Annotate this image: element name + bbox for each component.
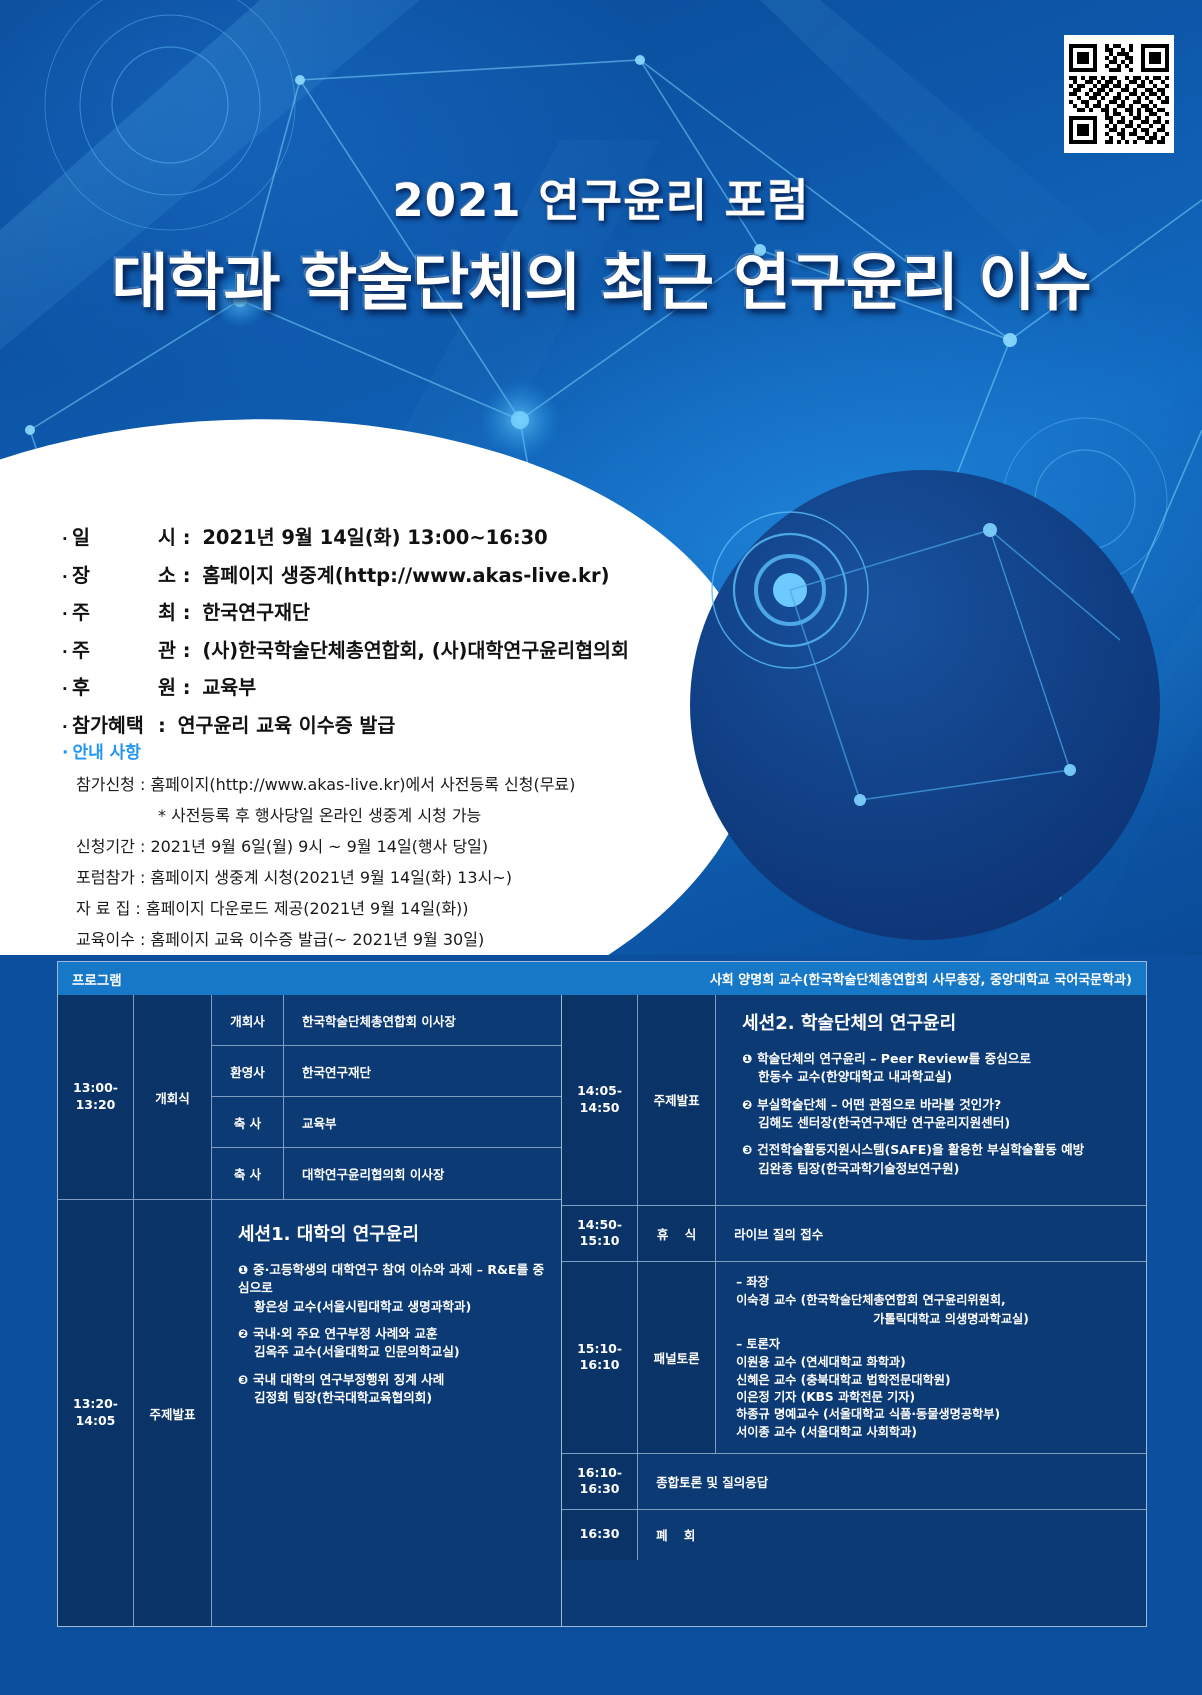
item-speaker: 김해도 센터장(한국연구재단 연구윤리지원센터) <box>758 1114 1132 1132</box>
panel-block: – 좌장 이숙경 교수 (한국학술단체총연합회 연구윤리위원회, 가톨릭대학교 … <box>716 1262 1146 1453</box>
cell-kind: 패널토론 <box>638 1262 716 1453</box>
notice-line: 자 료 집 : 홈페이지 다운로드 제공(2021년 9월 14일(화)) <box>76 901 575 917</box>
colon: : <box>176 528 197 548</box>
cell-time: 13:00- 13:20 <box>58 995 134 1199</box>
item-topic: 학술단체의 연구윤리 – Peer Review를 중심으로 <box>757 1051 1031 1066</box>
item-number: ❶ <box>742 1051 757 1068</box>
item-number: ❶ <box>238 1262 253 1279</box>
item-topic: 국내·외 주요 연구부정 사례와 교훈 <box>253 1326 438 1341</box>
program-header-title: 프로그램 <box>72 969 122 989</box>
cell-time: 16:10- 16:30 <box>562 1454 638 1509</box>
info-label-pad: 관 <box>158 641 176 661</box>
cell-kind: 휴 식 <box>638 1206 716 1261</box>
table-row: 16:10- 16:30 종합토론 및 질의응답 <box>562 1454 1146 1510</box>
panelists-label: – 토론자 <box>736 1336 1136 1353</box>
cell-time: 14:05- 14:50 <box>562 995 638 1205</box>
opening-subrows: 개회사 한국학술단체총연합회 이사장 환영사 한국연구재단 축 사 교육부 <box>212 995 561 1199</box>
panelist-name: 서이종 교수 (서울대학교 사회학과) <box>736 1424 1136 1441</box>
info-label: 주 <box>72 641 158 661</box>
item-number: ❷ <box>742 1097 757 1114</box>
notice-line: 참가신청 : 홈페이지(http://www.akas-live.kr)에서 사… <box>76 777 575 793</box>
info-row-organizer: · 주 관 : (사)한국학술단체총연합회, (사)대학연구윤리협의회 <box>62 641 629 661</box>
info-label-pad: 소 <box>158 566 176 586</box>
info-value: 연구윤리 교육 이수증 발급 <box>178 716 396 736</box>
panelist-name: 이은정 기자 (KBS 과학전문 기자) <box>736 1389 1136 1406</box>
info-value: 홈페이지 생중계(http://www.akas-live.kr) <box>202 566 609 586</box>
item-speaker: 황은성 교수(서울시립대학교 생명과학과) <box>254 1298 547 1316</box>
notice-line: 교육이수 : 홈페이지 교육 이수증 발급(~ 2021년 9월 30일) <box>76 932 575 948</box>
time-label: 14:05- 14:50 <box>577 1083 622 1117</box>
info-value: 교육부 <box>202 678 256 698</box>
time-label: 16:30 <box>580 1526 620 1543</box>
item-speaker: 김옥주 교수(서울대학교 인문의학교실) <box>254 1343 547 1361</box>
cell-subkind: 축 사 <box>212 1148 284 1199</box>
table-row: 축 사 교육부 <box>212 1097 561 1148</box>
info-label: 일 <box>72 528 158 548</box>
program-header-bar: 프로그램 사회 양명희 교수(한국학술단체총연합회 사무총장, 중앙대학교 국어… <box>58 962 1146 995</box>
info-row-sponsor: · 후 원 : 교육부 <box>62 678 629 698</box>
time-label: 13:00- 13:20 <box>73 1080 118 1114</box>
item-number: ❷ <box>238 1326 253 1343</box>
cell-kind: 주제발표 <box>134 1200 212 1626</box>
cell-subkind: 축 사 <box>212 1097 284 1147</box>
bullet-icon: · <box>62 532 72 547</box>
colon: : <box>176 566 197 586</box>
session2-item: ❷부실학술단체 – 어떤 관점으로 바라볼 것인가? 김해도 센터장(한국연구재… <box>742 1096 1132 1133</box>
poster-root: 2021 연구윤리 포럼 대학과 학술단체의 최근 연구윤리 이슈 · 일 시 … <box>0 0 1202 1695</box>
qr-code-icon <box>1064 35 1174 153</box>
circle-target-graphic <box>690 470 1160 940</box>
cell-subkind: 개회사 <box>212 995 284 1045</box>
session2-item: ❶학술단체의 연구윤리 – Peer Review를 중심으로 한동수 교수(한… <box>742 1050 1132 1087</box>
item-topic: 건전학술활동지원시스템(SAFE)을 활용한 부실학술활동 예방 <box>757 1142 1084 1157</box>
item-speaker: 김정희 팀장(한국대학교육협의회) <box>254 1389 547 1407</box>
notice-line: * 사전등록 후 행사당일 온라인 생중계 시청 가능 <box>158 808 575 824</box>
panelist-name: 이원용 교수 (연세대학교 화학과) <box>736 1354 1136 1371</box>
bullet-icon: · <box>62 570 72 585</box>
session1-title: 세션1. 대학의 연구윤리 <box>238 1220 547 1246</box>
panelist-name: 하종규 명예교수 (서울대학교 식품·동물생명공학부) <box>736 1406 1136 1423</box>
panel-chair-affiliation: 가톨릭대학교 의생명과학교실) <box>736 1311 1136 1328</box>
session1-item: ❸국내 대학의 연구부정행위 징계 사례 김정희 팀장(한국대학교육협의회) <box>238 1371 547 1408</box>
notice-heading: ·안내 사항 <box>62 738 575 763</box>
program-moderator: 사회 양명희 교수(한국학술단체총연합회 사무총장, 중앙대학교 국어국문학과) <box>710 969 1132 988</box>
title-block: 2021 연구윤리 포럼 대학과 학술단체의 최근 연구윤리 이슈 <box>0 175 1202 317</box>
cell-desc: 라이브 질의 접수 <box>716 1206 1146 1261</box>
time-label: 13:20- 14:05 <box>73 1396 118 1430</box>
table-row: 14:05- 14:50 주제발표 세션2. 학술단체의 연구윤리 ❶학술단체의… <box>562 995 1146 1206</box>
info-label: 주 <box>72 603 158 623</box>
session2-block: 세션2. 학술단체의 연구윤리 ❶학술단체의 연구윤리 – Peer Revie… <box>716 995 1146 1205</box>
colon: : <box>176 603 197 623</box>
table-row: 15:10- 16:10 패널토론 – 좌장 이숙경 교수 (한국학술단체총연합… <box>562 1262 1146 1454</box>
cell-subkind: 환영사 <box>212 1046 284 1096</box>
info-value: 한국연구재단 <box>202 603 310 623</box>
notice-heading-label: 안내 사항 <box>72 743 140 763</box>
cell-kind: 개회식 <box>134 995 212 1199</box>
item-number: ❸ <box>742 1142 757 1159</box>
cell-time: 14:50- 15:10 <box>562 1206 638 1261</box>
cell-kind: 주제발표 <box>638 995 716 1205</box>
item-topic: 부실학술단체 – 어떤 관점으로 바라볼 것인가? <box>757 1097 1001 1112</box>
time-label: 16:10- 16:30 <box>577 1465 622 1499</box>
time-label: 15:10- 16:10 <box>577 1341 622 1375</box>
page-subtitle: 대학과 학술단체의 최근 연구윤리 이슈 <box>0 249 1202 317</box>
item-topic: 국내 대학의 연구부정행위 징계 사례 <box>253 1372 444 1387</box>
cell-desc: 한국연구재단 <box>284 1046 561 1096</box>
info-value: (사)한국학술단체총연합회, (사)대학연구윤리협의회 <box>202 641 629 661</box>
info-row-date: · 일 시 : 2021년 9월 14일(화) 13:00~16:30 <box>62 528 629 548</box>
notice-line: 포럼참가 : 홈페이지 생중계 시청(2021년 9월 14일(화) 13시~) <box>76 870 575 886</box>
info-label-pad: 최 <box>158 603 176 623</box>
notice-section: ·안내 사항 참가신청 : 홈페이지(http://www.akas-live.… <box>62 738 575 963</box>
dark-blue-circle <box>690 470 1160 940</box>
bullet-icon: · <box>62 607 72 622</box>
cell-desc: 폐 회 <box>638 1510 1146 1560</box>
cell-time: 15:10- 16:10 <box>562 1262 638 1453</box>
item-speaker: 김완종 팀장(한국과학기술정보연구원) <box>758 1160 1132 1178</box>
session1-item: ❶중·고등학생의 대학연구 참여 이슈와 과제 – R&E를 중심으로 황은성 … <box>238 1261 547 1316</box>
colon: : <box>176 641 197 661</box>
table-row: 16:30 폐 회 <box>562 1510 1146 1560</box>
table-row: 13:00- 13:20 개회식 개회사 한국학술단체총연합회 이사장 환영사 … <box>58 995 561 1200</box>
session1-item: ❷국내·외 주요 연구부정 사례와 교훈 김옥주 교수(서울대학교 인문의학교실… <box>238 1325 547 1362</box>
table-row: 환영사 한국연구재단 <box>212 1046 561 1097</box>
panel-chair-name: 이숙경 교수 (한국학술단체총연합회 연구윤리위원회, <box>736 1292 1136 1309</box>
info-label: 참가혜택 <box>72 716 158 736</box>
page-title: 2021 연구윤리 포럼 <box>0 175 1202 227</box>
cell-desc: 교육부 <box>284 1097 561 1147</box>
session2-title: 세션2. 학술단체의 연구윤리 <box>742 1009 1132 1035</box>
info-label-pad: 시 <box>158 528 176 548</box>
bullet-icon: · <box>62 682 72 697</box>
cell-desc: 종합토론 및 질의응답 <box>638 1454 1146 1509</box>
program-table: 프로그램 사회 양명희 교수(한국학술단체총연합회 사무총장, 중앙대학교 국어… <box>57 961 1147 1627</box>
info-row-host: · 주 최 : 한국연구재단 <box>62 603 629 623</box>
bullet-icon: · <box>62 720 72 735</box>
table-row: 축 사 대학연구윤리협의회 이사장 <box>212 1148 561 1199</box>
time-label: 14:50- 15:10 <box>577 1217 622 1251</box>
colon: : <box>158 716 173 736</box>
cell-time: 16:30 <box>562 1510 638 1560</box>
bullet-icon: · <box>62 645 72 660</box>
panelist-name: 신혜은 교수 (충북대학교 법학전문대학원) <box>736 1372 1136 1389</box>
info-label-pad: 원 <box>158 678 176 698</box>
session2-item: ❸건전학술활동지원시스템(SAFE)을 활용한 부실학술활동 예방 김완종 팀장… <box>742 1141 1132 1178</box>
session1-block: 세션1. 대학의 연구윤리 ❶중·고등학생의 대학연구 참여 이슈와 과제 – … <box>212 1200 561 1626</box>
table-row: 14:50- 15:10 휴 식 라이브 질의 접수 <box>562 1206 1146 1262</box>
item-speaker: 한동수 교수(한양대학교 내과학교실) <box>758 1068 1132 1086</box>
program-right-column: 14:05- 14:50 주제발표 세션2. 학술단체의 연구윤리 ❶학술단체의… <box>562 995 1146 1626</box>
item-topic: 중·고등학생의 대학연구 참여 이슈와 과제 – R&E를 중심으로 <box>238 1262 544 1295</box>
panel-chair-label: – 좌장 <box>736 1274 1136 1291</box>
table-row: 13:20- 14:05 주제발표 세션1. 대학의 연구윤리 ❶중·고등학생의… <box>58 1200 561 1626</box>
cell-desc: 대학연구윤리협의회 이사장 <box>284 1148 561 1199</box>
program-left-column: 13:00- 13:20 개회식 개회사 한국학술단체총연합회 이사장 환영사 … <box>58 995 562 1626</box>
notice-line: 신청기간 : 2021년 9월 6일(월) 9시 ~ 9월 14일(행사 당일) <box>76 839 575 855</box>
program-body: 13:00- 13:20 개회식 개회사 한국학술단체총연합회 이사장 환영사 … <box>58 995 1146 1626</box>
info-value: 2021년 9월 14일(화) 13:00~16:30 <box>202 528 547 548</box>
bullet-icon: · <box>62 743 68 763</box>
info-label: 장 <box>72 566 158 586</box>
table-row: 개회사 한국학술단체총연합회 이사장 <box>212 995 561 1046</box>
info-label: 후 <box>72 678 158 698</box>
cell-desc: 한국학술단체총연합회 이사장 <box>284 995 561 1045</box>
info-row-place: · 장 소 : 홈페이지 생중계(http://www.akas-live.kr… <box>62 566 629 586</box>
colon: : <box>176 678 197 698</box>
item-number: ❸ <box>238 1372 253 1389</box>
cell-time: 13:20- 14:05 <box>58 1200 134 1626</box>
info-row-benefit: · 참가혜택 : 연구윤리 교육 이수증 발급 <box>62 716 629 736</box>
event-info-list: · 일 시 : 2021년 9월 14일(화) 13:00~16:30 · 장 … <box>62 528 629 753</box>
